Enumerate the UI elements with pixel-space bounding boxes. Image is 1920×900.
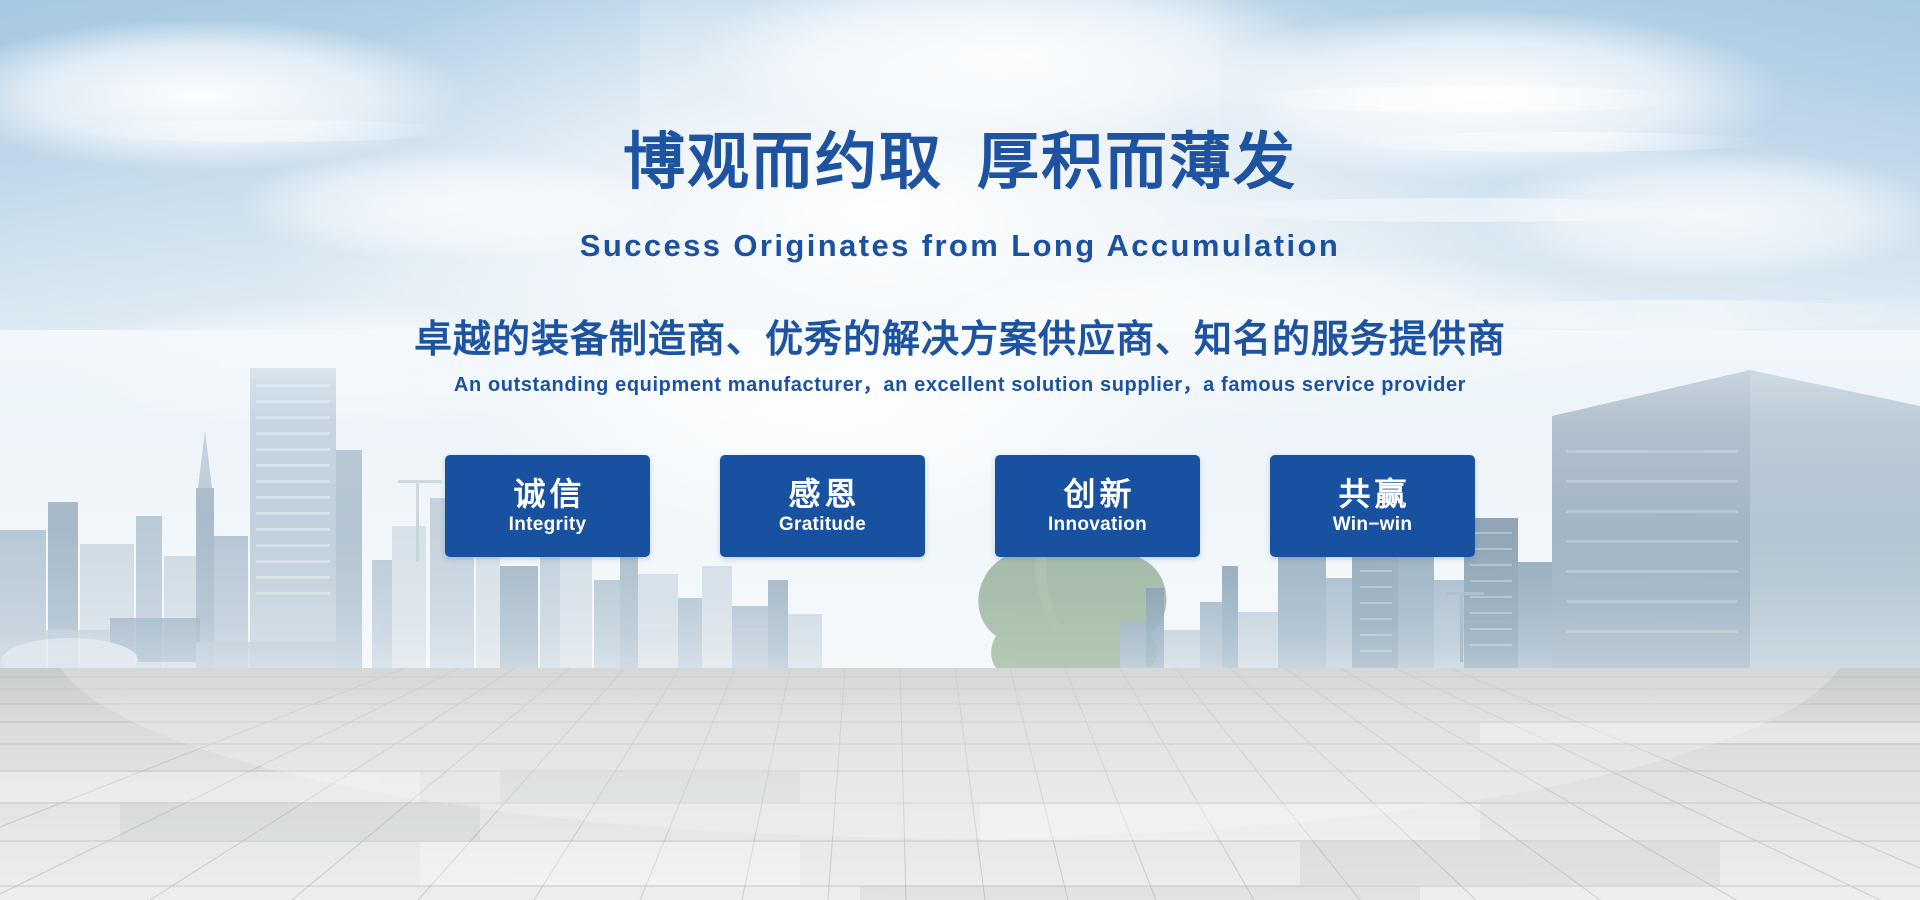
- core-values-list: 诚信 Integrity 感恩 Gratitude 创新 Innovation …: [0, 455, 1920, 557]
- value-card-winwin[interactable]: 共赢 Win−win: [1270, 455, 1475, 557]
- hero-banner: 博观而约取厚积而薄发 Success Originates from Long …: [0, 0, 1920, 900]
- subtitle-english: An outstanding equipment manufacturer，an…: [0, 368, 1920, 397]
- value-card-winwin-en: Win−win: [1333, 515, 1413, 536]
- value-card-integrity-en: Integrity: [509, 515, 587, 536]
- value-card-gratitude-cn: 感恩: [784, 476, 860, 513]
- value-card-gratitude[interactable]: 感恩 Gratitude: [720, 455, 925, 557]
- value-card-innovation-en: Innovation: [1048, 515, 1147, 536]
- banner-content: 博观而约取厚积而薄发 Success Originates from Long …: [0, 0, 1920, 900]
- headline-chinese-part1: 博观而约取: [623, 125, 943, 198]
- value-card-innovation-cn: 创新: [1059, 476, 1135, 513]
- value-card-innovation[interactable]: 创新 Innovation: [995, 455, 1200, 557]
- headline-chinese: 博观而约取厚积而薄发: [0, 128, 1920, 196]
- value-card-integrity[interactable]: 诚信 Integrity: [445, 455, 650, 557]
- headline-chinese-part2: 厚积而薄发: [977, 125, 1297, 198]
- headline-english: Success Originates from Long Accumulatio…: [0, 228, 1920, 264]
- value-card-gratitude-en: Gratitude: [779, 515, 866, 536]
- value-card-integrity-cn: 诚信: [509, 476, 585, 513]
- value-card-winwin-cn: 共赢: [1334, 476, 1410, 513]
- subtitle-chinese: 卓越的装备制造商、优秀的解决方案供应商、知名的服务提供商: [0, 308, 1920, 363]
